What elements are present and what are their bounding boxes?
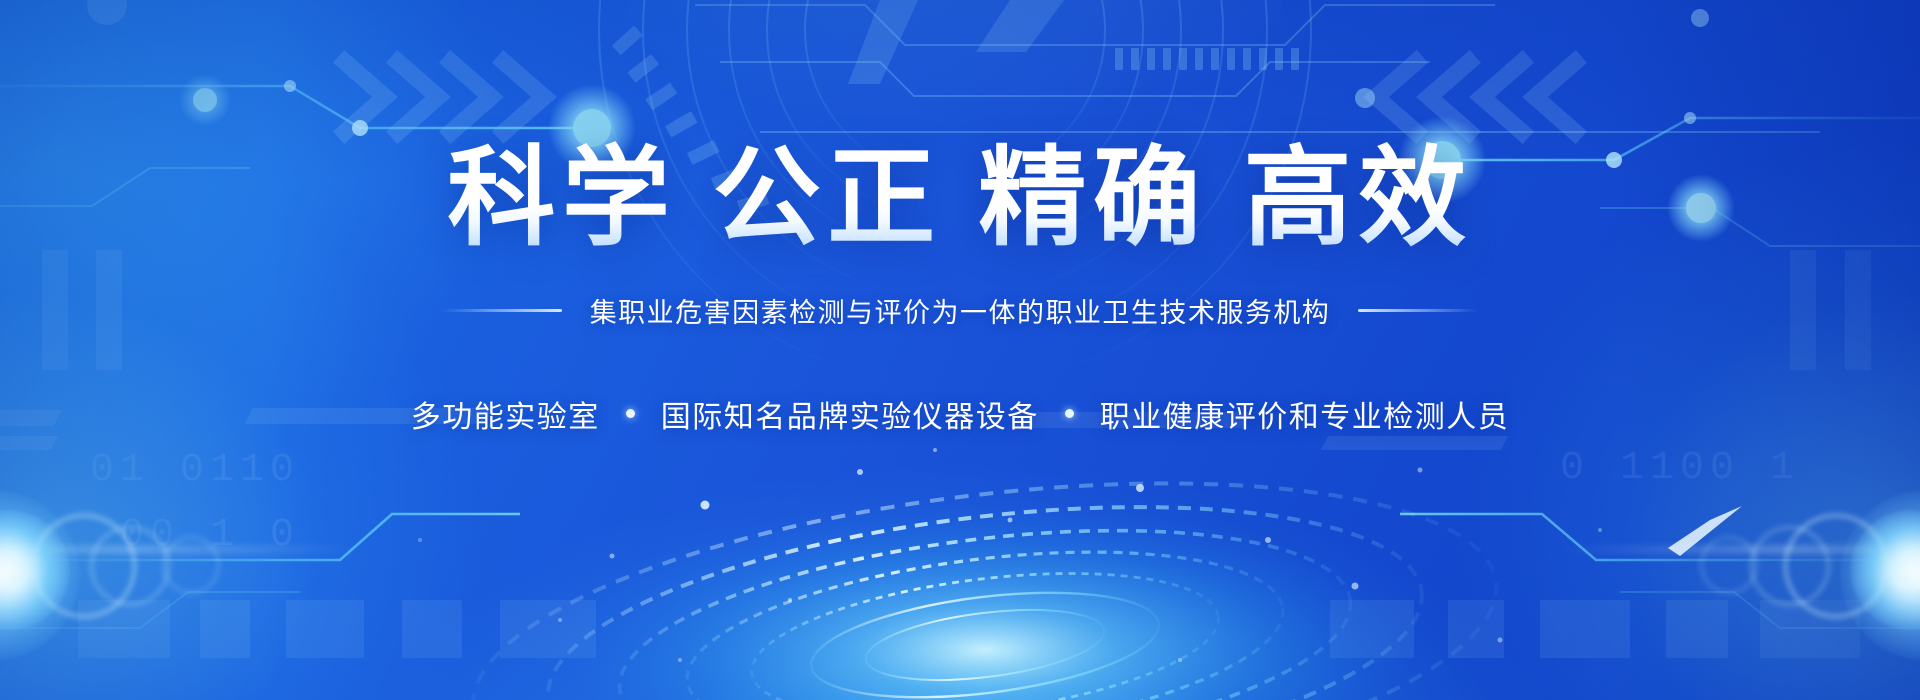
subtitle-rule-left [442, 309, 562, 312]
feature-item-3: 职业健康评价和专业检测人员 [1100, 392, 1510, 436]
subtitle-row: 集职业危害因素检测与评价为一体的职业卫生技术服务机构 [442, 291, 1479, 330]
banner-subtitle: 集职业危害因素检测与评价为一体的职业卫生技术服务机构 [590, 291, 1331, 330]
hero-banner: 01 0110 00 1 0 0 1100 1 科学 公正 精确 高效 [0, 0, 1920, 700]
feature-list: 多功能实验室 国际知名品牌实验仪器设备 职业健康评价和专业检测人员 [411, 392, 1510, 436]
subtitle-rule-right [1358, 309, 1478, 312]
banner-headline: 科学 公正 精确 高效 [447, 140, 1472, 257]
feature-item-1: 多功能实验室 [411, 392, 600, 436]
banner-content: 科学 公正 精确 高效 集职业危害因素检测与评价为一体的职业卫生技术服务机构 多… [0, 0, 1920, 700]
separator-dot-icon [626, 409, 635, 418]
feature-item-2: 国际知名品牌实验仪器设备 [661, 392, 1039, 436]
separator-dot-icon [1065, 409, 1074, 418]
